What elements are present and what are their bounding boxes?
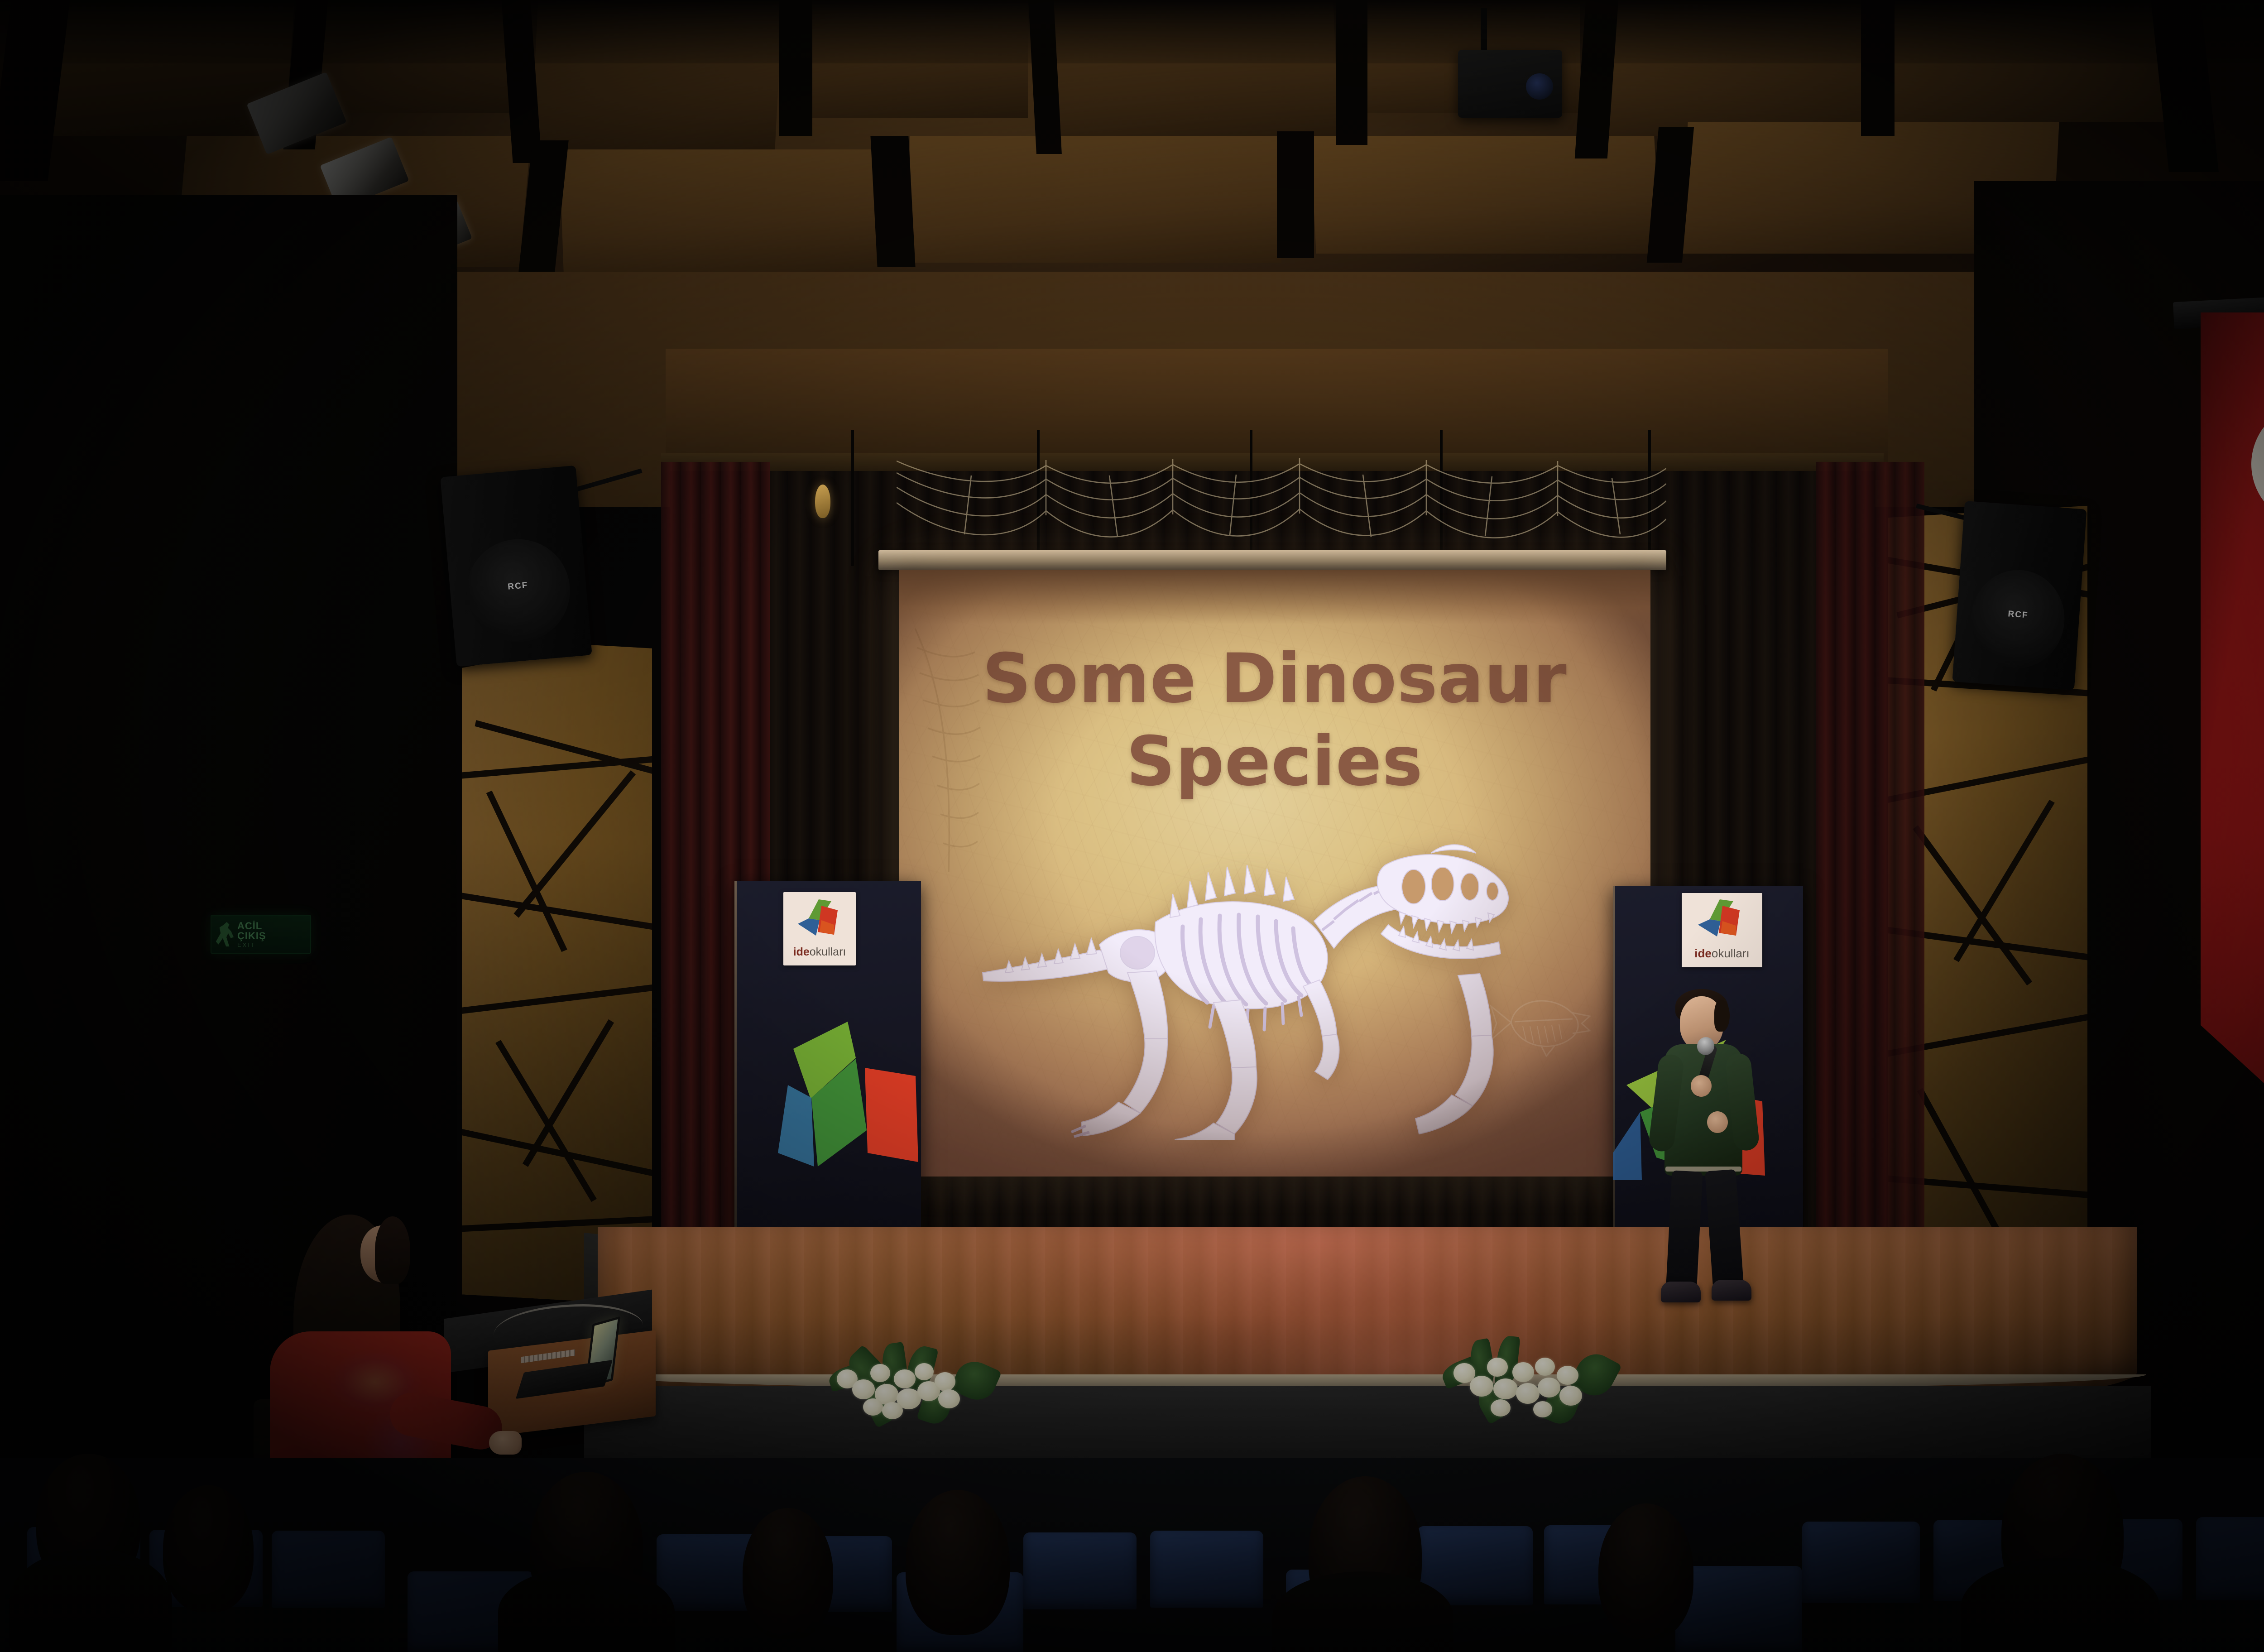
audience-head — [906, 1490, 1010, 1635]
exit-line-1: ACİL — [237, 921, 266, 931]
pa-speaker-left: RCF — [440, 466, 592, 667]
logo-word-bold: ide — [1694, 946, 1712, 960]
hand-right — [1707, 1111, 1728, 1133]
leg-left — [1666, 1170, 1703, 1287]
hair-side — [1714, 1000, 1730, 1032]
logo-word-bold: ide — [793, 946, 810, 958]
white-chrysanthemum-arrangement-left — [824, 1340, 1041, 1422]
projector-lens — [1526, 73, 1553, 100]
seat[interactable] — [272, 1531, 385, 1608]
audience-shoulders — [498, 1567, 675, 1652]
emergency-exit-sign: ACİL ÇIKIŞ EXIT — [211, 915, 311, 954]
screen-top-shadow — [899, 570, 1650, 624]
running-person-icon — [216, 922, 234, 946]
leg-right — [1705, 1169, 1744, 1287]
rigging-rod — [851, 430, 854, 566]
white-chrysanthemum-arrangement-right — [1440, 1336, 1653, 1422]
ceiling-projector — [1458, 50, 1562, 118]
hand-on-mic — [1691, 1075, 1712, 1097]
pa-speaker-right: RCF — [1952, 501, 2087, 690]
audience-head — [163, 1485, 254, 1612]
flag-crescent — [2251, 403, 2264, 525]
stage-curtain-right — [1816, 462, 1924, 1268]
projector-mount — [1481, 8, 1487, 53]
exit-line-3: EXIT — [237, 942, 266, 948]
seat[interactable] — [1802, 1522, 1920, 1603]
logo-word-light: okulları — [810, 946, 846, 958]
seat[interactable] — [2196, 1517, 2264, 1600]
seat[interactable] — [1150, 1531, 1263, 1608]
seat[interactable] — [1023, 1532, 1137, 1609]
shoe-left — [1661, 1282, 1701, 1302]
audience-head — [1598, 1503, 1693, 1639]
shoe-right — [1712, 1280, 1751, 1301]
logo-card-left: ideokulları — [783, 892, 856, 965]
ide-okullari-logo-mark — [796, 898, 845, 942]
stage-banner-left: ideokulları — [734, 881, 921, 1270]
logo-card-right: ideokulları — [1682, 893, 1762, 967]
auditorium-photo: Some Dinosaur Species — [0, 0, 2264, 1652]
projection-screen: Some Dinosaur Species — [899, 570, 1650, 1177]
seat[interactable] — [1675, 1566, 1802, 1652]
audience-shoulders — [9, 1549, 172, 1652]
hand-on-keyboard — [489, 1431, 522, 1455]
audience-seating — [0, 1458, 2264, 1652]
hanging-lantern — [815, 485, 830, 518]
logo-word-light: okulları — [1712, 946, 1750, 960]
proscenium-header — [666, 349, 1888, 466]
audience-shoulders — [1961, 1558, 2160, 1652]
audience-head — [743, 1508, 833, 1639]
hair-front — [375, 1216, 410, 1284]
turkish-flag — [2201, 312, 2264, 1141]
ide-okullari-logo-mark — [1696, 898, 1747, 943]
exit-line-2: ÇIKIŞ — [237, 931, 266, 941]
logo-wordmark-right: ideokulları — [1682, 946, 1762, 960]
screen-vignette — [899, 570, 1650, 1177]
spiderweb-decoration — [897, 457, 1666, 562]
logo-wordmark-left: ideokulları — [783, 946, 856, 959]
projection-screen-housing — [878, 550, 1666, 570]
student-presenter — [1647, 986, 1760, 1312]
exit-sign-text: ACİL ÇIKIŞ EXIT — [237, 921, 266, 948]
